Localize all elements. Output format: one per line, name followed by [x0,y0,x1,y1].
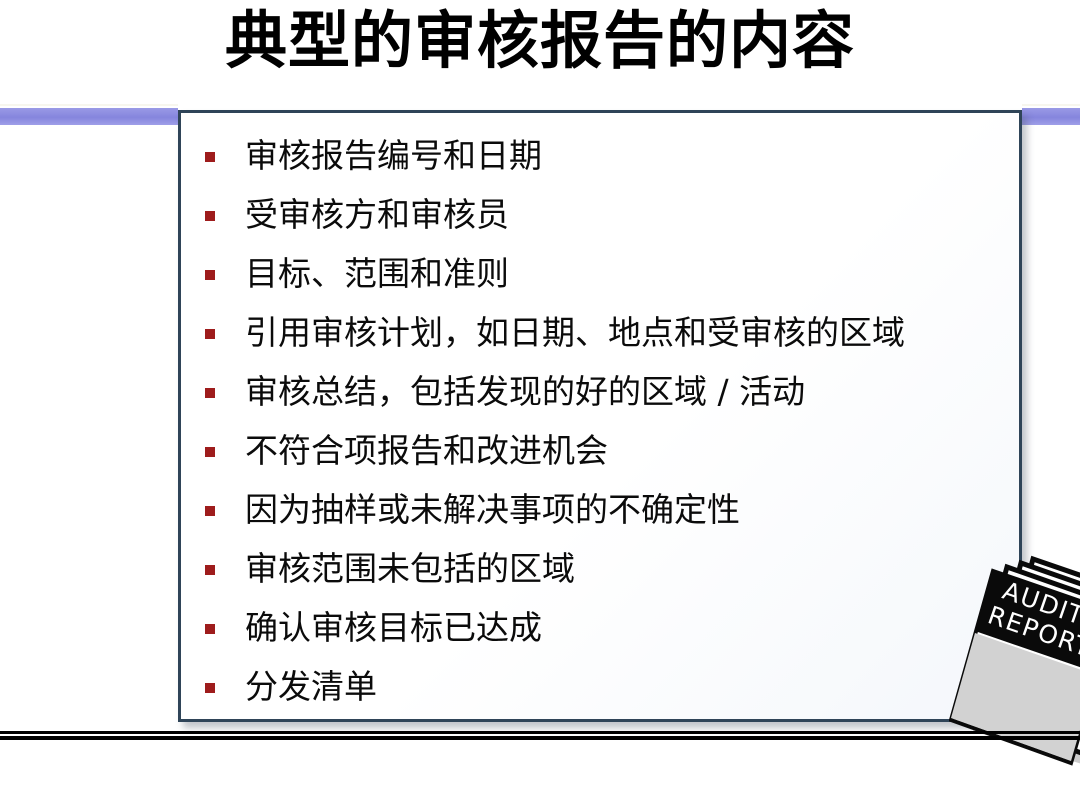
list-item-label: 引用审核计划，如日期、地点和受审核的区域 [245,315,905,351]
footer-rule-bottom [0,736,1080,740]
bullet-square-icon [205,683,215,693]
list-item-label: 审核报告编号和日期 [245,138,542,174]
list-item: 受审核方和审核员 [197,186,1009,245]
audit-report-illustration: AUDIT REPORT [949,551,1080,810]
list-item: 审核报告编号和日期 [197,127,1009,186]
bullet-square-icon [205,447,215,457]
list-item: 审核总结，包括发现的好的区域 / 活动 [197,363,1009,422]
band-highlight-right [1022,104,1080,106]
bullet-square-icon [205,388,215,398]
bullet-square-icon [205,211,215,221]
bullet-square-icon [205,624,215,634]
bullet-square-icon [205,329,215,339]
title-divider-band-right [1022,108,1080,125]
list-item-label: 审核范围未包括的区域 [245,551,575,587]
list-item: 目标、范围和准则 [197,245,1009,304]
list-item-label: 受审核方和审核员 [245,197,509,233]
list-item: 不符合项报告和改进机会 [197,422,1009,481]
band-highlight-left [0,104,178,106]
list-item: 分发清单 [197,658,1009,717]
footer-rule-top [0,731,1080,734]
page-title: 典型的审核报告的内容 [0,10,1080,72]
list-item-label: 审核总结，包括发现的好的区域 / 活动 [245,374,805,410]
list-item-label: 目标、范围和准则 [245,256,509,292]
bullet-square-icon [205,506,215,516]
bullet-square-icon [205,565,215,575]
list-item-label: 因为抽样或未解决事项的不确定性 [245,492,740,528]
list-item-label: 分发清单 [245,669,377,705]
list-item: 引用审核计划，如日期、地点和受审核的区域 [197,304,1009,363]
audit-report-cover: AUDIT REPORT [951,571,1080,763]
content-box: 审核报告编号和日期 受审核方和审核员 目标、范围和准则 引用审核计划，如日期、地… [178,110,1022,722]
bullet-square-icon [205,152,215,162]
title-divider-band-left [0,108,178,125]
slide-canvas: 典型的审核报告的内容 审核报告编号和日期 受审核方和审核员 目标、范围和准则 引… [0,0,1080,810]
bullet-square-icon [205,270,215,280]
list-item: 因为抽样或未解决事项的不确定性 [197,481,1009,540]
list-item-label: 不符合项报告和改进机会 [245,433,608,469]
list-item: 审核范围未包括的区域 [197,540,1009,599]
list-item-label: 确认审核目标已达成 [245,610,542,646]
bullet-list: 审核报告编号和日期 受审核方和审核员 目标、范围和准则 引用审核计划，如日期、地… [197,127,1009,717]
list-item: 确认审核目标已达成 [197,599,1009,658]
